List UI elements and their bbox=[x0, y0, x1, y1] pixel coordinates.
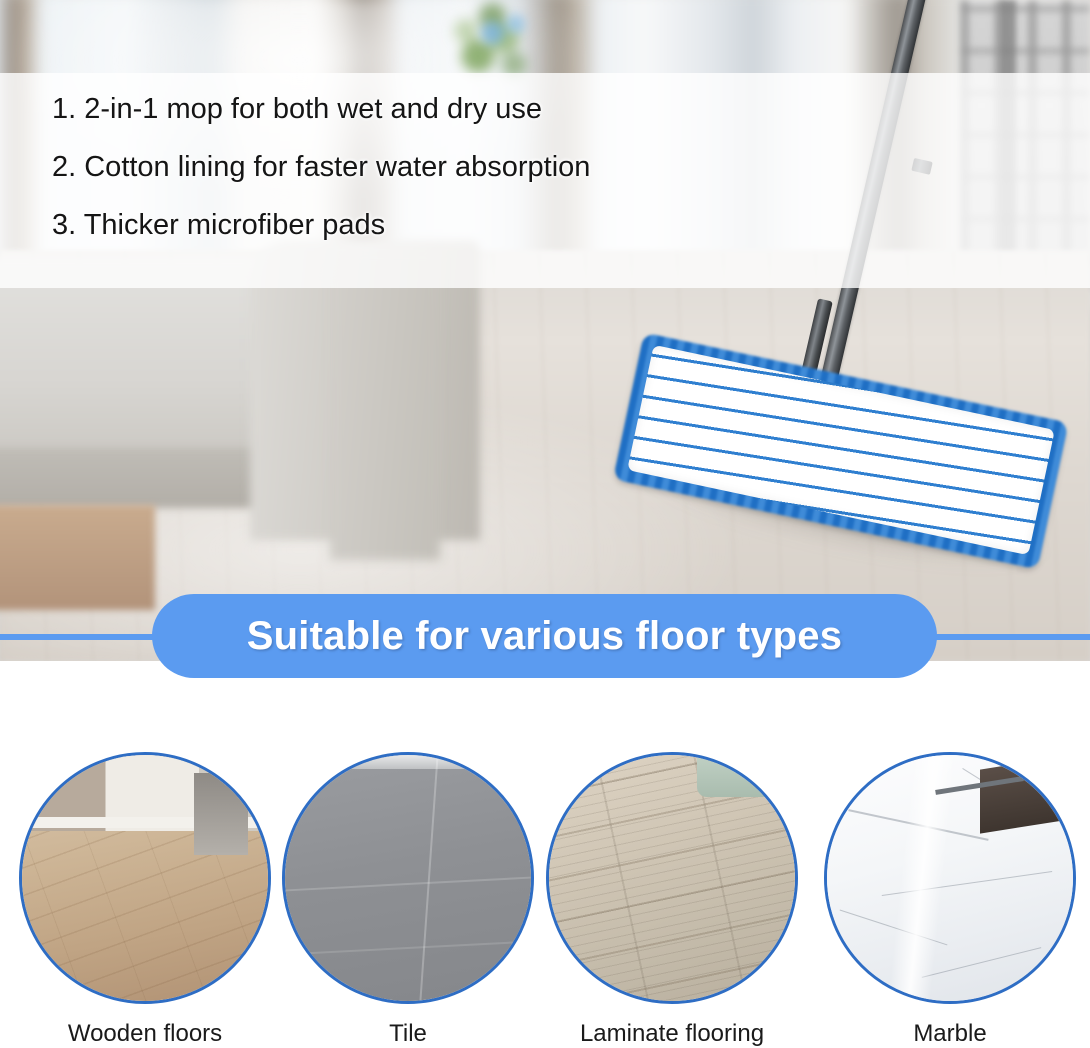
floor-type-image-laminate bbox=[546, 752, 798, 1004]
floor-type-label: Marble bbox=[818, 1020, 1082, 1048]
floor-type-laminate-flooring: Laminate flooring bbox=[540, 752, 804, 1048]
floor-type-label: Tile bbox=[276, 1020, 540, 1048]
wooden-table-edge bbox=[0, 505, 155, 610]
feature-list: 1. 2-in-1 mop for both wet and dry use 2… bbox=[52, 95, 1012, 269]
sofa-armrest-secondary bbox=[330, 250, 440, 560]
lifestyle-photo: 1. 2-in-1 mop for both wet and dry use 2… bbox=[0, 0, 1090, 661]
product-infographic: 1. 2-in-1 mop for both wet and dry use 2… bbox=[0, 0, 1090, 1048]
floor-type-tile: Tile bbox=[276, 752, 540, 1048]
feature-item-3: 3. Thicker microfiber pads bbox=[52, 211, 1012, 240]
laminate-room-furniture bbox=[697, 752, 786, 797]
tile-room-wall-strip bbox=[329, 755, 482, 769]
floor-type-marble: Marble bbox=[818, 752, 1082, 1048]
feature-item-1: 1. 2-in-1 mop for both wet and dry use bbox=[52, 95, 1012, 124]
suitable-floors-banner: Suitable for various floor types bbox=[152, 594, 937, 678]
plant-flowers bbox=[468, 6, 538, 66]
wooden-room-doorway bbox=[194, 773, 248, 855]
banner-title: Suitable for various floor types bbox=[247, 614, 842, 659]
floor-type-image-marble bbox=[824, 752, 1076, 1004]
floor-type-wooden-floors: Wooden floors bbox=[13, 752, 277, 1048]
floor-type-label: Wooden floors bbox=[13, 1020, 277, 1048]
feature-item-2: 2. Cotton lining for faster water absorp… bbox=[52, 153, 1012, 182]
floor-type-image-tile bbox=[282, 752, 534, 1004]
floor-type-label: Laminate flooring bbox=[540, 1020, 804, 1048]
floor-types-row: Wooden floors Tile Laminate flooring bbox=[0, 752, 1090, 1048]
marble-room-cabinet bbox=[980, 756, 1064, 833]
floor-type-image-wooden bbox=[19, 752, 271, 1004]
